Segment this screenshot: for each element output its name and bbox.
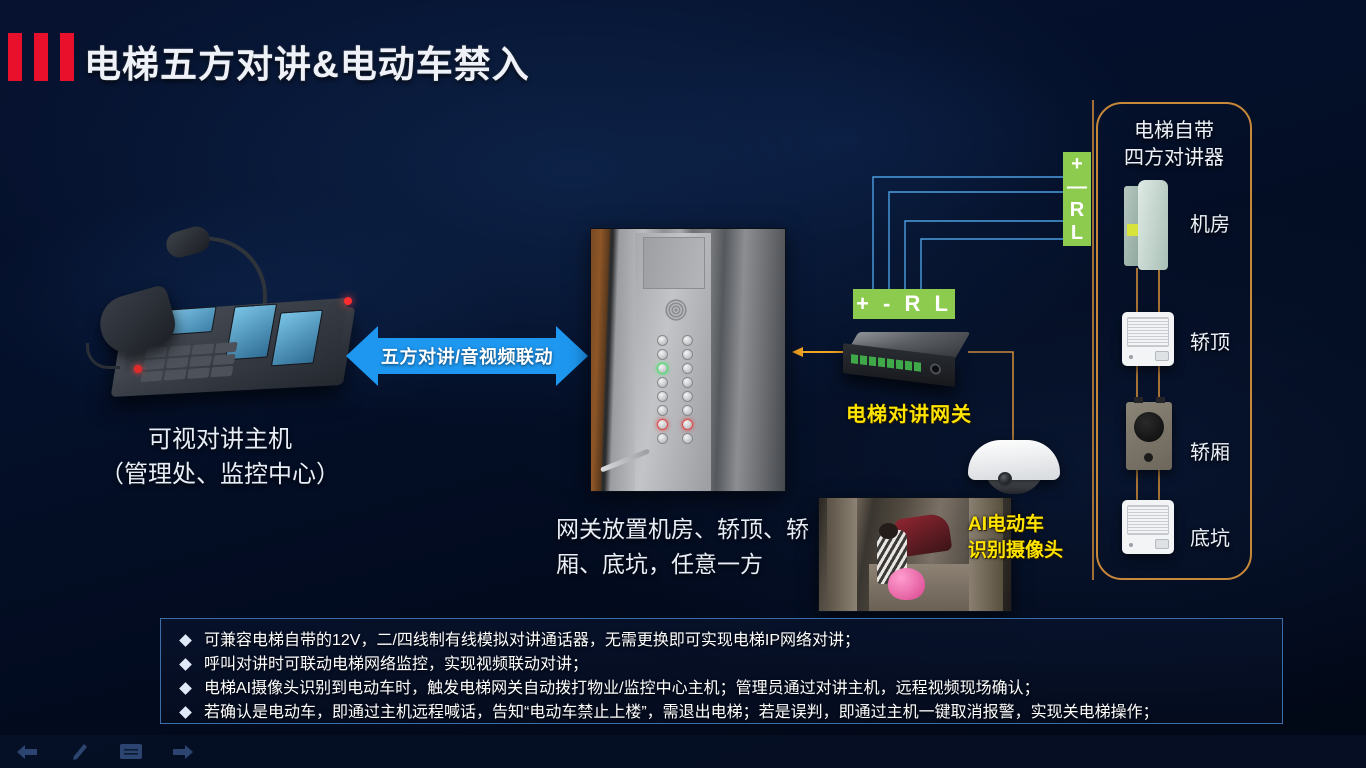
car-top-intercom-icon — [1122, 312, 1174, 366]
slide-header: 电梯五方对讲&电动车禁入 — [0, 0, 1366, 104]
list-item: 电梯AI摄像头识别到电动车时，触发电梯网关自动拨打物业/监控中心主机；管理员通过… — [177, 677, 1266, 700]
camera-label-line2: 识别摄像头 — [968, 538, 1063, 564]
elevator-intercom-gateway-device — [843, 332, 971, 390]
bullet-text: 电梯AI摄像头识别到电动车时，触发电梯网关自动拨打物业/监控中心主机；管理员通过… — [204, 677, 1040, 700]
elevator-caption: 网关放置机房、轿顶、轿 厢、底坑，任意一方 — [556, 512, 856, 581]
car-cabin-intercom-icon — [1126, 402, 1172, 470]
pen-icon[interactable] — [66, 742, 92, 762]
list-item: 呼叫对讲时可联动电梯网络监控，实现视频联动对讲； — [177, 653, 1266, 676]
camera-label-line1: AI电动车 — [968, 512, 1063, 538]
terminal-r: R — [1070, 199, 1084, 222]
right-group-title: 电梯自带 四方对讲器 — [1096, 118, 1252, 172]
machine-room-handset-icon — [1124, 180, 1170, 270]
visual-intercom-master-phone — [70, 225, 370, 415]
linkage-arrow: 五方对讲/音视频联动 — [346, 326, 588, 386]
visual-intercom-master-block: 可视对讲主机 （管理处、监控中心） — [60, 225, 380, 493]
terminal-tag-vertical: + — R L — [1063, 152, 1091, 246]
right-group-title-line2: 四方对讲器 — [1096, 145, 1252, 172]
list-item: 可兼容电梯自带的12V，二/四线制有线模拟对讲通话器，无需更换即可实现电梯IP网… — [177, 629, 1266, 652]
phone-caption-line1: 可视对讲主机 — [60, 423, 380, 458]
bullet-text: 若确认是电动车，即通过主机远程喊话，告知“电动车禁止上楼”，需退出电梯；若是误判… — [204, 701, 1159, 724]
feature-bullets-list: 可兼容电梯自带的12V，二/四线制有线模拟对讲通话器，无需更换即可实现电梯IP网… — [177, 629, 1266, 724]
list-item: 若确认是电动车，即通过主机远程喊话，告知“电动车禁止上楼”，需退出电梯；若是误判… — [177, 701, 1266, 724]
pit-intercom-icon — [1122, 500, 1174, 554]
accent-bars-icon — [8, 33, 74, 81]
node-label-car-top: 轿顶 — [1190, 326, 1230, 355]
presentation-navbar — [0, 735, 1366, 768]
feature-bullets-box: 可兼容电梯自带的12V，二/四线制有线模拟对讲通话器，无需更换即可实现电梯IP网… — [160, 618, 1283, 724]
diamond-bullet-icon — [179, 682, 192, 695]
terminal-minus: — — [1067, 176, 1087, 199]
page-title: 电梯五方对讲&电动车禁入 — [84, 34, 530, 88]
bullet-text: 呼叫对讲时可联动电梯网络监控，实现视频联动对讲； — [204, 653, 588, 676]
arrow-right-icon[interactable] — [170, 742, 196, 762]
node-label-machine-room: 机房 — [1190, 208, 1230, 237]
camera-label: AI电动车 识别摄像头 — [968, 512, 1063, 563]
terminal-tag-horizontal: + - R L — [853, 289, 955, 319]
diamond-bullet-icon — [179, 634, 192, 647]
phone-caption-line2: （管理处、监控中心） — [60, 458, 380, 493]
phone-caption: 可视对讲主机 （管理处、监控中心） — [60, 423, 380, 493]
linkage-arrow-label: 五方对讲/音视频联动 — [346, 326, 588, 386]
terminal-l: L — [1071, 222, 1083, 245]
node-label-car-cabin: 轿厢 — [1190, 436, 1230, 465]
ai-dome-camera — [968, 440, 1060, 500]
gateway-label: 电梯对讲网关 — [846, 398, 972, 427]
arrow-left-icon[interactable] — [14, 742, 40, 762]
bullet-text: 可兼容电梯自带的12V，二/四线制有线模拟对讲通话器，无需更换即可实现电梯IP网… — [204, 629, 860, 652]
diamond-bullet-icon — [179, 706, 192, 719]
node-label-pit: 底坑 — [1190, 522, 1230, 551]
elevator-cabin-photo — [590, 228, 786, 492]
diamond-bullet-icon — [179, 658, 192, 671]
notes-icon[interactable] — [118, 742, 144, 762]
terminal-plus: + — [1071, 153, 1083, 176]
right-group-title-line1: 电梯自带 — [1096, 118, 1252, 145]
elevator-caption-line2: 厢、底坑，任意一方 — [556, 547, 856, 582]
elevator-caption-line1: 网关放置机房、轿顶、轿 — [556, 512, 856, 547]
